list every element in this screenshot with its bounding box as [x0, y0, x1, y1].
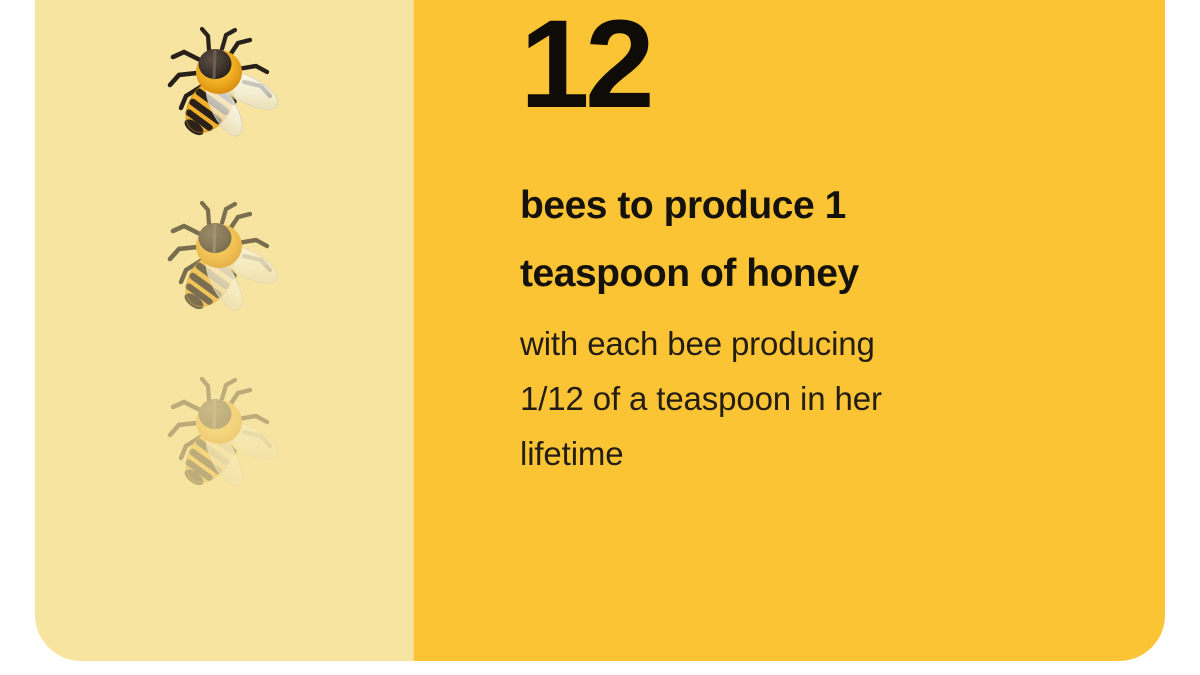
bee-illustration-2 — [164, 198, 282, 323]
stat-subtext-line-1: with each bee producing — [520, 316, 1100, 371]
bee-illustration-3 — [164, 374, 282, 499]
stat-number: 12 — [520, 2, 650, 127]
stat-subtext-line-2: 1/12 of a teaspoon in her — [520, 371, 1100, 426]
stat-headline-line-1: bees to produce 1 — [520, 172, 1060, 240]
stat-subtext-line-3: lifetime — [520, 426, 1100, 481]
bee-illustration-1 — [164, 24, 282, 149]
stat-headline: bees to produce 1 teaspoon of honey — [520, 172, 1060, 308]
infographic-stage: 12 bees to produce 1 teaspoon of honey w… — [0, 0, 1200, 675]
stat-text-panel: 12 bees to produce 1 teaspoon of honey w… — [414, 0, 1165, 661]
stat-subtext: with each bee producing 1/12 of a teaspo… — [520, 316, 1100, 481]
honey-fact-card: 12 bees to produce 1 teaspoon of honey w… — [35, 0, 1165, 661]
stat-headline-line-2: teaspoon of honey — [520, 240, 1060, 308]
bee-illustration-panel — [35, 0, 414, 661]
